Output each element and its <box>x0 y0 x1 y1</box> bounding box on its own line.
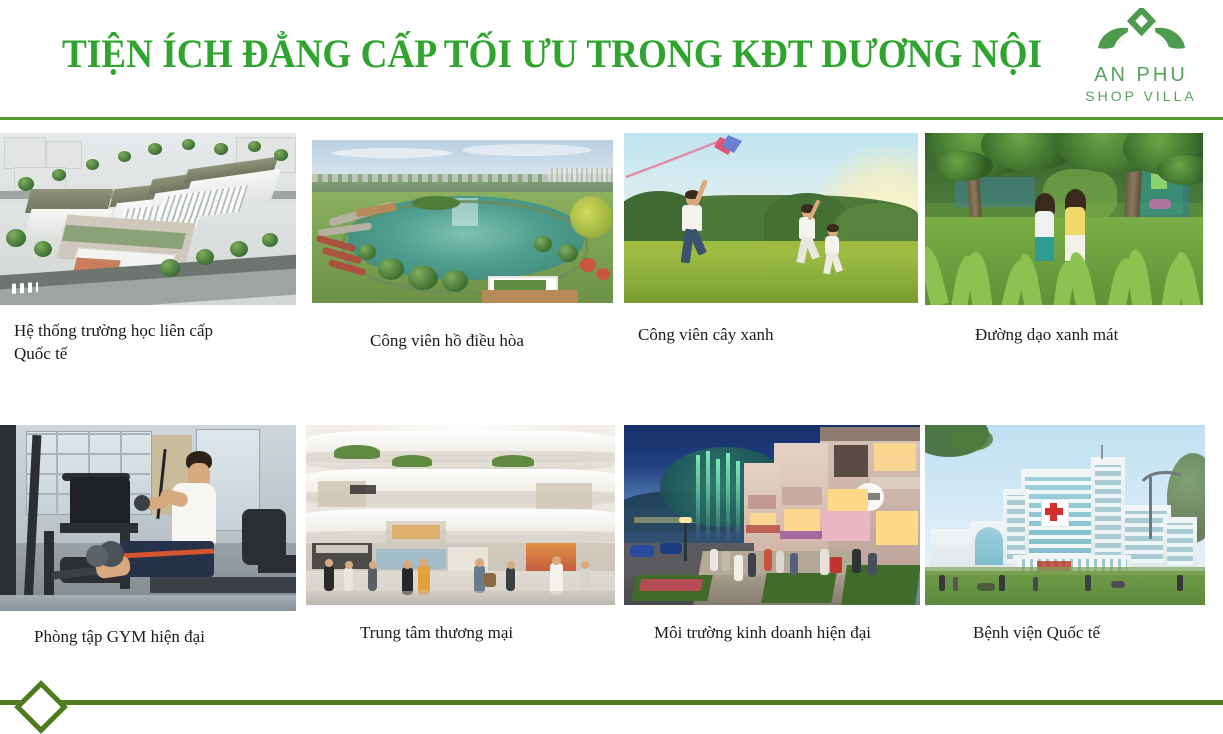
business-photo <box>624 425 920 605</box>
caption-lake-park: Công viên hồ điều hòa <box>370 329 650 352</box>
page-title: TIỆN ÍCH ĐẲNG CẤP TỐI ƯU TRONG KĐT DƯƠNG… <box>62 30 992 78</box>
page-header: TIỆN ÍCH ĐẲNG CẤP TỐI ƯU TRONG KĐT DƯƠNG… <box>0 0 1223 119</box>
gallery-item-gym[interactable]: Phòng tập GYM hiện đại <box>0 425 296 655</box>
caption-school-line2: Quốc tế <box>14 342 294 365</box>
caption-mall: Trung tâm thương mại <box>360 621 620 644</box>
gallery-item-walking-path[interactable]: Đường dạo xanh mát <box>925 133 1203 363</box>
hospital-photo <box>925 425 1205 605</box>
gallery-item-lake-park[interactable]: Công viên hồ điều hòa <box>312 140 613 370</box>
amenities-gallery: Hệ thống trường học liên cấp Quốc tế <box>0 119 1223 664</box>
green-park-photo <box>624 133 918 303</box>
gallery-item-school[interactable]: Hệ thống trường học liên cấp Quốc tế <box>0 133 296 363</box>
logo-subtitle: SHOP VILLA <box>1066 88 1216 104</box>
caption-walking-path: Đường dạo xanh mát <box>975 323 1215 346</box>
footer-divider <box>0 700 1223 705</box>
caption-business: Môi trường kinh doanh hiện đại <box>654 621 924 644</box>
diamond-ornament-icon <box>14 680 68 734</box>
mall-photo <box>306 425 615 605</box>
brand-logo: AN PHU SHOP VILLA <box>1066 8 1216 112</box>
gallery-item-hospital[interactable]: Bệnh viện Quốc tế <box>925 425 1205 655</box>
caption-green-park: Công viên cây xanh <box>638 323 918 346</box>
lake-park-photo <box>312 140 613 303</box>
leaf-diamond-icon <box>1084 8 1199 64</box>
school-photo <box>0 133 296 305</box>
logo-name: AN PHU <box>1066 64 1216 87</box>
page-footer <box>0 664 1223 725</box>
gym-photo <box>0 425 296 611</box>
gallery-item-green-park[interactable]: Công viên cây xanh <box>624 133 918 363</box>
caption-school-line1: Hệ thống trường học liên cấp <box>14 319 294 342</box>
walking-path-photo <box>925 133 1203 305</box>
caption-hospital: Bệnh viện Quốc tế <box>973 621 1213 644</box>
caption-school: Hệ thống trường học liên cấp Quốc tế <box>14 319 294 365</box>
gallery-item-mall[interactable]: Trung tâm thương mại <box>306 425 615 655</box>
gallery-item-business[interactable]: Môi trường kinh doanh hiện đại <box>624 425 920 655</box>
caption-gym: Phòng tập GYM hiện đại <box>34 625 294 648</box>
